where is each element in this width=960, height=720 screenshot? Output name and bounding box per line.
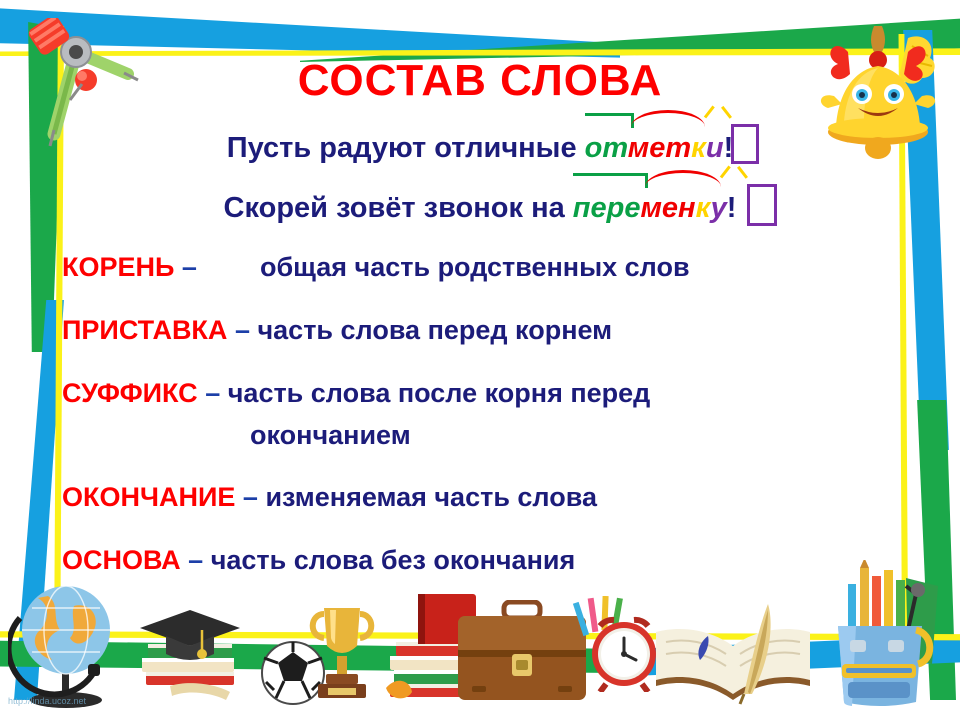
root-arc-mark bbox=[631, 110, 705, 127]
definition-dash: – bbox=[243, 482, 258, 512]
definition-dash: – bbox=[188, 545, 203, 575]
definition-dash: – bbox=[235, 315, 250, 345]
poster-canvas: СОСТАВ СЛОВА Пусть радуют отличные отмет… bbox=[0, 0, 960, 720]
definition-dash: – bbox=[205, 378, 220, 408]
word-ending: у bbox=[711, 192, 727, 224]
prefix-bracket-mark bbox=[585, 113, 634, 128]
definition-row-koren: КОРЕНЬ – общая часть родственных слов bbox=[62, 252, 690, 283]
word-prefix: пере bbox=[573, 192, 641, 224]
definition-description: часть слова без окончания bbox=[211, 545, 576, 575]
trophy-icon bbox=[302, 598, 382, 708]
definition-description: часть слова после корня перед bbox=[228, 378, 651, 408]
definition-term: ОКОНЧАНИЕ bbox=[62, 482, 235, 512]
parsed-word-peremenku: переменку bbox=[573, 190, 727, 225]
suffix-caret-mark bbox=[721, 168, 747, 183]
definition-description: часть слова перед корнем bbox=[257, 315, 612, 345]
open-book-quill-icon bbox=[648, 598, 818, 708]
definition-row-osnova: ОСНОВА – часть слова без окончания bbox=[62, 545, 575, 576]
parsed-word-otmetki: отметки bbox=[585, 130, 724, 165]
word-root: мет bbox=[628, 132, 691, 164]
word-prefix: от bbox=[585, 132, 628, 164]
watermark-text: http://linda.ucoz.net bbox=[8, 696, 86, 706]
globe-icon bbox=[8, 572, 128, 712]
definition-term: СУФФИКС bbox=[62, 378, 198, 408]
root-arc-mark bbox=[645, 170, 721, 187]
definition-row-pristavka: ПРИСТАВКА – часть слова перед корнем bbox=[62, 315, 612, 346]
rhyme-line-2-punctuation: ! bbox=[727, 192, 737, 224]
word-suffix: к bbox=[696, 192, 711, 224]
definition-continuation-suffiks: окончанием bbox=[250, 420, 411, 451]
word-ending: и bbox=[706, 132, 724, 164]
definition-row-suffiks: СУФФИКС – часть слова после корня перед bbox=[62, 378, 650, 409]
definition-description: изменяемая часть слова bbox=[265, 482, 597, 512]
definition-term: КОРЕНЬ bbox=[62, 252, 174, 282]
definition-dash: – bbox=[182, 252, 197, 282]
rhyme-line-1-lead: Пусть радуют отличные bbox=[227, 132, 585, 164]
ending-box-mark bbox=[731, 124, 759, 164]
pencil-cup-backpack-icon bbox=[820, 560, 940, 710]
definition-term: ОСНОВА bbox=[62, 545, 181, 575]
word-suffix: к bbox=[691, 132, 706, 164]
prefix-bracket-mark bbox=[573, 173, 648, 188]
suffix-caret-mark bbox=[705, 108, 731, 123]
rhyme-line-2-lead: Скорей зовёт звонок на bbox=[224, 192, 573, 224]
definition-description: общая часть родственных слов bbox=[260, 252, 690, 282]
definition-row-okonchanie: ОКОНЧАНИЕ – изменяемая часть слова bbox=[62, 482, 597, 513]
compass-divider-icon bbox=[24, 18, 144, 148]
ending-box-mark bbox=[747, 184, 777, 226]
school-bell-icon bbox=[812, 22, 942, 162]
definition-term: ПРИСТАВКА bbox=[62, 315, 227, 345]
word-root: мен bbox=[640, 192, 695, 224]
graduation-cap-books-icon bbox=[130, 588, 250, 708]
alarm-clock-icon bbox=[570, 596, 660, 692]
rhyme-line-2: Скорей зовёт звонок на переменку! bbox=[0, 190, 960, 225]
